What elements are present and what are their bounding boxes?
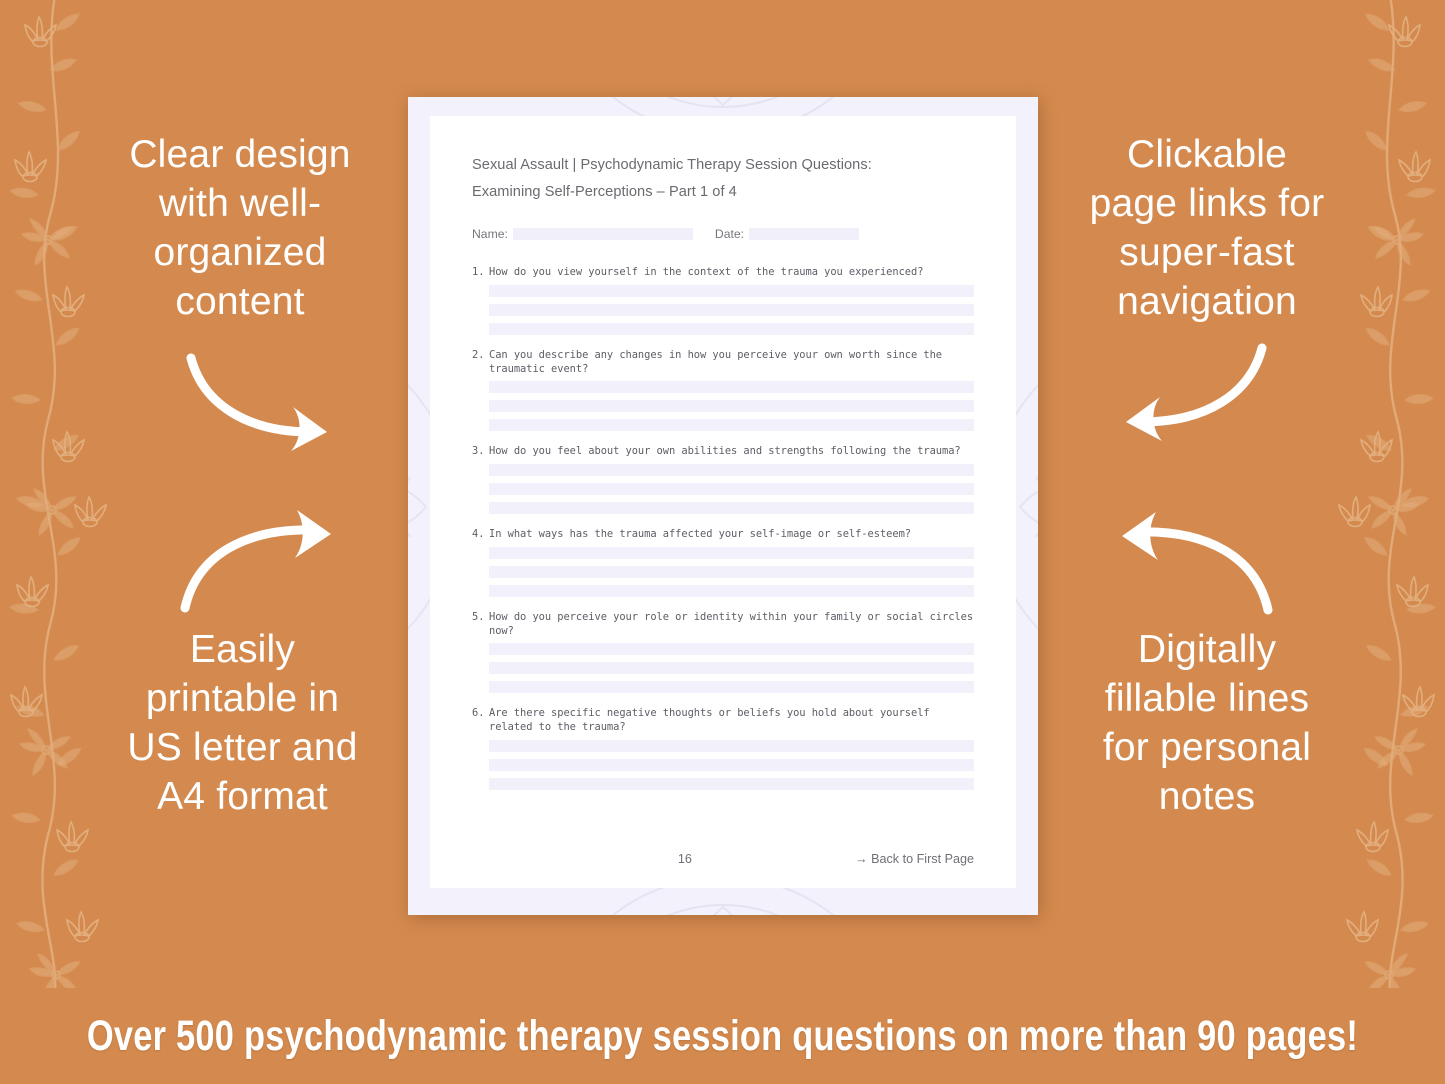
answer-line[interactable]: [489, 662, 974, 674]
question-number: 5.: [472, 611, 489, 638]
answer-line[interactable]: [489, 547, 974, 559]
answer-line[interactable]: [489, 502, 974, 514]
answer-line[interactable]: [489, 483, 974, 495]
question-item: 3. How do you feel about your own abilit…: [472, 445, 974, 514]
worksheet-page: Sexual Assault | Psychodynamic Therapy S…: [408, 97, 1038, 915]
question-item: 1. How do you view yourself in the conte…: [472, 266, 974, 335]
question-number: 3.: [472, 445, 489, 459]
answer-lines: [472, 740, 974, 790]
question-number: 2.: [472, 349, 489, 376]
answer-line[interactable]: [489, 778, 974, 790]
bottom-banner: Over 500 psychodynamic therapy session q…: [0, 988, 1445, 1084]
question-text-row: 1. How do you view yourself in the conte…: [472, 266, 974, 280]
question-text-row: 6. Are there specific negative thoughts …: [472, 707, 974, 734]
answer-line[interactable]: [489, 304, 974, 316]
question-body: How do you perceive your role or identit…: [489, 611, 974, 638]
answer-line[interactable]: [489, 323, 974, 335]
questions-list: 1. How do you view yourself in the conte…: [472, 266, 974, 790]
answer-lines: [472, 643, 974, 693]
question-body: How do you view yourself in the context …: [489, 266, 974, 280]
question-number: 4.: [472, 528, 489, 542]
curved-arrow-left-up-icon: [1098, 508, 1278, 620]
banner-headline: Over 500 psychodynamic therapy session q…: [87, 1012, 1358, 1061]
date-input[interactable]: [749, 228, 859, 240]
question-body: How do you feel about your own abilities…: [489, 445, 974, 459]
question-text-row: 3. How do you feel about your own abilit…: [472, 445, 974, 459]
name-label: Name:: [472, 227, 508, 241]
promo-graphic: Clear design with well- organized conten…: [0, 0, 1445, 1084]
question-body: In what ways has the trauma affected you…: [489, 528, 974, 542]
worksheet-footer: 16 → Back to First Page: [472, 852, 974, 866]
question-text-row: 2. Can you describe any changes in how y…: [472, 349, 974, 376]
worksheet-content-card: Sexual Assault | Psychodynamic Therapy S…: [430, 116, 1016, 888]
curved-arrow-right-up-icon: [175, 508, 355, 618]
curved-arrow-right-down-icon: [175, 352, 355, 457]
answer-line[interactable]: [489, 285, 974, 297]
answer-line[interactable]: [489, 566, 974, 578]
worksheet-title: Sexual Assault | Psychodynamic Therapy S…: [472, 152, 974, 205]
name-input[interactable]: [513, 228, 693, 240]
question-number: 1.: [472, 266, 489, 280]
answer-line[interactable]: [489, 464, 974, 476]
promo-text-printable: Easily printable in US letter and A4 for…: [100, 625, 385, 822]
answer-line[interactable]: [489, 419, 974, 431]
promo-text-clear-design: Clear design with well- organized conten…: [95, 130, 385, 327]
question-number: 6.: [472, 707, 489, 734]
curved-arrow-left-down-icon: [1098, 342, 1278, 447]
question-item: 4. In what ways has the trauma affected …: [472, 528, 974, 597]
answer-line[interactable]: [489, 381, 974, 393]
answer-lines: [472, 547, 974, 597]
date-label: Date:: [715, 227, 744, 241]
answer-lines: [472, 285, 974, 335]
answer-line[interactable]: [489, 681, 974, 693]
question-text-row: 5. How do you perceive your role or iden…: [472, 611, 974, 638]
worksheet-meta-row: Name: Date:: [472, 227, 974, 241]
back-to-first-page-link[interactable]: → Back to First Page: [855, 852, 974, 866]
answer-line[interactable]: [489, 759, 974, 771]
question-body: Can you describe any changes in how you …: [489, 349, 974, 376]
answer-line[interactable]: [489, 585, 974, 597]
answer-line[interactable]: [489, 740, 974, 752]
answer-line[interactable]: [489, 400, 974, 412]
question-body: Are there specific negative thoughts or …: [489, 707, 974, 734]
promo-text-clickable-links: Clickable page links for super-fast navi…: [1062, 130, 1352, 327]
question-item: 5. How do you perceive your role or iden…: [472, 611, 974, 693]
answer-lines: [472, 464, 974, 514]
answer-lines: [472, 381, 974, 431]
question-item: 6. Are there specific negative thoughts …: [472, 707, 974, 789]
promo-text-fillable-lines: Digitally fillable lines for personal no…: [1062, 625, 1352, 822]
question-item: 2. Can you describe any changes in how y…: [472, 349, 974, 431]
answer-line[interactable]: [489, 643, 974, 655]
page-number: 16: [678, 852, 692, 866]
question-text-row: 4. In what ways has the trauma affected …: [472, 528, 974, 542]
